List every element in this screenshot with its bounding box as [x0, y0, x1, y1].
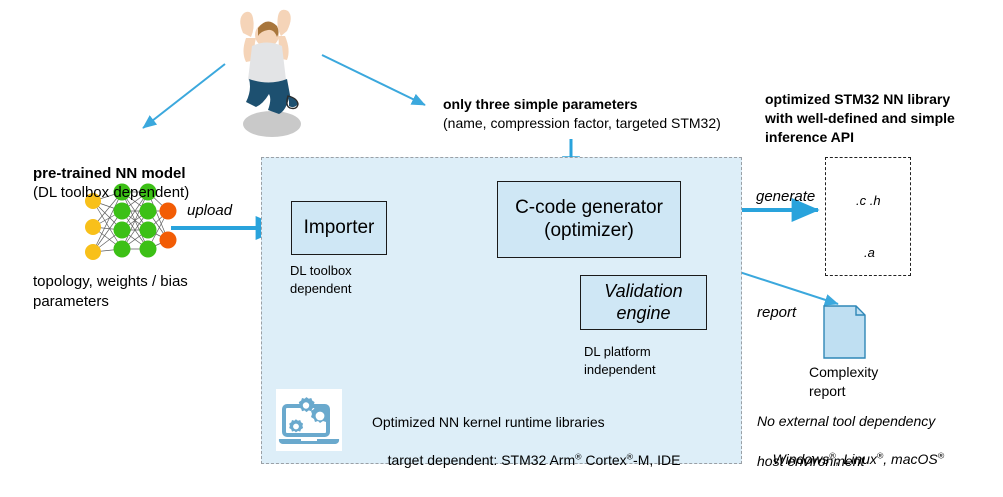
runtime-caption-line2: target dependent: STM32 Arm® Cortex®-M, … — [372, 433, 680, 488]
arrow-actor-to-params — [322, 55, 425, 105]
model-heading: pre-trained NN model — [33, 164, 186, 183]
model-caption-line1: topology, weights / bias — [33, 272, 188, 291]
validation-engine-label-line1: Validation — [604, 281, 682, 302]
complexity-report-icon — [824, 306, 865, 358]
runtime-laptop-icon — [276, 389, 342, 451]
footnote-macos: , macOS — [883, 451, 937, 467]
runtime-caption-mid: Cortex — [582, 452, 627, 468]
complexity-report-caption-line2: report — [809, 383, 846, 401]
importer-caption-line1: DL toolbox — [290, 263, 352, 280]
report-label: report — [757, 303, 796, 322]
c-code-generator-label-line2: (optimizer) — [515, 220, 663, 242]
c-code-generator-label-line1: C-code generator — [515, 197, 663, 219]
diagram-canvas: pre-trained NN model (DL toolbox depende… — [0, 0, 1003, 497]
importer-box[interactable]: Importer — [291, 201, 387, 255]
library-heading-line2: with well-defined and simple — [765, 110, 955, 128]
importer-label: Importer — [304, 217, 375, 239]
validation-engine-label-line2: engine — [604, 303, 682, 324]
footnote-line3: host environment — [757, 453, 864, 471]
upload-label: upload — [187, 201, 232, 220]
c-code-generator-box[interactable]: C-code generator (optimizer) — [497, 181, 681, 258]
runtime-caption-suffix: -M, IDE — [633, 452, 680, 468]
validation-engine-box[interactable]: Validation engine — [580, 275, 707, 330]
generate-label: generate — [756, 187, 815, 206]
validation-caption-line1: DL platform — [584, 344, 651, 361]
runtime-caption-line1: Optimized NN kernel runtime libraries — [372, 413, 605, 431]
model-caption-line2: parameters — [33, 292, 109, 311]
validation-caption-line2: independent — [584, 362, 656, 379]
parameters-detail: (name, compression factor, targeted STM3… — [443, 115, 721, 133]
runtime-caption-prefix: target dependent: STM32 Arm — [388, 452, 576, 468]
library-heading-line3: inference API — [765, 129, 854, 147]
model-subheading: (DL toolbox dependent) — [33, 183, 189, 202]
footnote-line1: No external tool dependency — [757, 413, 935, 431]
importer-caption-line2: dependent — [290, 281, 351, 298]
source-files-label: .c .h — [856, 193, 881, 210]
library-archive-label: .a — [864, 245, 875, 262]
complexity-report-caption-line1: Complexity — [809, 364, 878, 382]
registered-mark-macos: ® — [938, 450, 944, 460]
parameters-heading: only three simple parameters — [443, 96, 638, 114]
arrow-actor-to-model — [143, 64, 225, 128]
developer-figure — [240, 10, 301, 137]
library-heading-line1: optimized STM32 NN library — [765, 91, 950, 109]
